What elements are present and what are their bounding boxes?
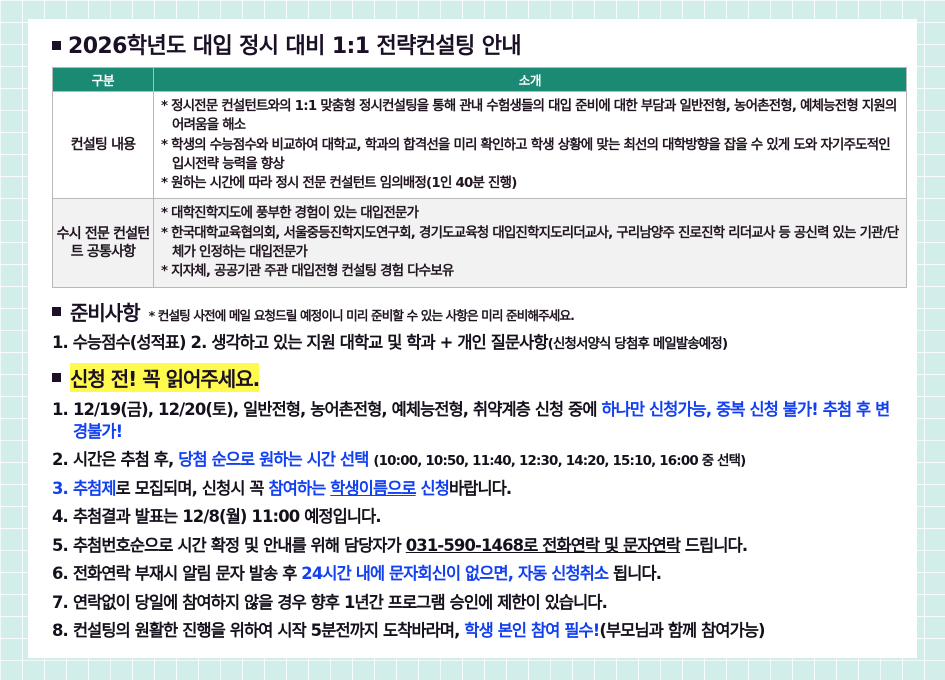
notice-item-text-run: 추첨번호순으로 시간 확정 및 안내를 위해 담당자가 xyxy=(73,536,406,555)
notice-item-text-run: 시간은 추첨 후, xyxy=(73,450,178,469)
notice-item-text: 12/19(금), 12/20(토), 일반전형, 농어촌전형, 예체능전형, … xyxy=(73,399,903,442)
notice-item-text-run: 12/19(금), 12/20(토), 일반전형, 농어촌전형, 예체능전형, … xyxy=(73,400,602,419)
notice-section: 신청 전! 꼭 읽어주세요. 1.12/19(금), 12/20(토), 일반전… xyxy=(52,363,903,641)
preparation-items-subtext: (신청서양식 당첨후 메일발송예정) xyxy=(548,337,728,352)
notice-item-number: 5. xyxy=(52,535,68,556)
notice-item-number: 8. xyxy=(52,620,68,641)
notice-item-text: 연락없이 당일에 참여하지 않을 경우 향후 1년간 프로그램 승인에 제한이 … xyxy=(73,592,903,613)
notice-item-text-run: (부모님과 함께 참여가능) xyxy=(599,621,764,640)
notice-list-item: 5.추첨번호순으로 시간 확정 및 안내를 위해 담당자가 031-590-14… xyxy=(52,535,903,556)
bullet-item: * 한국대학교육협의회, 서울중등진학지도연구회, 경기도교육청 대입진학지도리… xyxy=(161,224,900,263)
notice-item-text-run: 컨설팅의 원활한 진행을 위하여 시작 5분전까지 도착바라며, xyxy=(73,621,464,640)
notice-item-text: 컨설팅의 원활한 진행을 위하여 시작 5분전까지 도착바라며, 학생 본인 참… xyxy=(73,620,903,641)
notice-list-item: 8.컨설팅의 원활한 진행을 위하여 시작 5분전까지 도착바라며, 학생 본인… xyxy=(52,620,903,641)
notice-item-text-run: 추첨결과 발표는 12/8(월) 11:00 예정입니다. xyxy=(73,507,381,526)
notice-item-text-run: 학생 본인 참여 필수! xyxy=(464,621,599,640)
bullet-item: * 대학진학지도에 풍부한 경험이 있는 대입전문가 xyxy=(161,204,900,223)
preparation-items-line: 1. 수능점수(성적표) 2. 생각하고 있는 지원 대학교 및 학과 + 개인… xyxy=(52,332,903,354)
preparation-heading-line: 준비사항 * 컨설팅 사전에 메일 요청드릴 예정이니 미리 준비할 수 있는 … xyxy=(52,297,903,326)
row-content-consultant-common: * 대학진학지도에 풍부한 경험이 있는 대입전문가 * 한국대학교육협의회, … xyxy=(154,199,907,287)
preparation-note: * 컨설팅 사전에 메일 요청드릴 예정이니 미리 준비할 수 있는 사항은 미… xyxy=(149,305,574,324)
notice-item-text-run: 24시간 내에 문자회신이 없으면, 자동 신청취소 xyxy=(301,564,608,583)
column-header-category: 구분 xyxy=(53,68,154,92)
notice-item-text: 전화연락 부재시 알림 문자 발송 후 24시간 내에 문자회신이 없으면, 자… xyxy=(73,563,903,584)
notice-item-text-run: 전화연락 부재시 알림 문자 발송 후 xyxy=(73,564,301,583)
row-content-consulting-content: * 정시전문 컨설턴트와의 1:1 맞춤형 정시컨설팅을 통해 관내 수험생들의… xyxy=(154,92,907,199)
notice-item-text-run: 연락없이 당일에 참여하지 않을 경우 향후 1년간 프로그램 승인에 제한이 … xyxy=(73,593,607,612)
page-title-text: 2026학년도 대입 정시 대비 1:1 전략컨설팅 안내 xyxy=(68,28,521,60)
notice-item-number: 7. xyxy=(52,592,68,613)
notice-item-text: 추첨결과 발표는 12/8(월) 11:00 예정입니다. xyxy=(73,506,903,527)
table-body: 컨설팅 내용 * 정시전문 컨설턴트와의 1:1 맞춤형 정시컨설팅을 통해 관… xyxy=(53,92,907,288)
table-row: 컨설팅 내용 * 정시전문 컨설턴트와의 1:1 맞춤형 정시컨설팅을 통해 관… xyxy=(53,92,907,199)
page-title: 2026학년도 대입 정시 대비 1:1 전략컨설팅 안내 xyxy=(42,28,903,60)
notice-item-text-run: 드립니다. xyxy=(680,536,747,555)
notice-list-item: 7.연락없이 당일에 참여하지 않을 경우 향후 1년간 프로그램 승인에 제한… xyxy=(52,592,903,613)
notice-item-number: 6. xyxy=(52,563,68,584)
notice-item-text-run: 로 모집되며, 신청시 꼭 xyxy=(116,479,269,498)
bullet-item: * 원하는 시간에 따라 정시 전문 컨설턴트 임의배정(1인 40분 진행) xyxy=(161,174,900,193)
bullet-item: * 학생의 수능점수와 비교하여 대학교, 학과의 합격선을 미리 확인하고 학… xyxy=(161,136,900,175)
notice-item-number: 3. xyxy=(52,478,68,499)
notice-item-number: 1. xyxy=(52,399,68,420)
notice-list-item: 4.추첨결과 발표는 12/8(월) 11:00 예정입니다. xyxy=(52,506,903,527)
row-label-consultant-common: 수시 전문 컨설턴트 공통사항 xyxy=(53,199,154,287)
notice-list-item: 6.전화연락 부재시 알림 문자 발송 후 24시간 내에 문자회신이 없으면,… xyxy=(52,563,903,584)
notice-item-text-run: 추첨제 xyxy=(73,479,116,498)
notice-item-text-run: 바랍니다. xyxy=(449,479,511,498)
notice-heading: 신청 전! 꼭 읽어주세요. xyxy=(70,363,259,392)
bullet-item: * 지자체, 공공기관 주관 대입전형 컨설팅 경험 다수보유 xyxy=(161,262,900,281)
notice-item-text-run: 신청 xyxy=(416,479,449,498)
notice-item-number: 4. xyxy=(52,506,68,527)
table-row: 수시 전문 컨설턴트 공통사항 * 대학진학지도에 풍부한 경험이 있는 대입전… xyxy=(53,199,907,287)
notice-heading-line: 신청 전! 꼭 읽어주세요. xyxy=(52,363,903,392)
bullet-item: * 정시전문 컨설턴트와의 1:1 맞춤형 정시컨설팅을 통해 관내 수험생들의… xyxy=(161,97,900,136)
row-label-consulting-content: 컨설팅 내용 xyxy=(53,92,154,199)
notice-list-item: 2.시간은 추첨 후, 당첨 순으로 원하는 시간 선택 (10:00, 10:… xyxy=(52,449,903,471)
notice-list-item: 3.추첨제로 모집되며, 신청시 꼭 참여하는 학생이름으로 신청바랍니다. xyxy=(52,478,903,499)
table-header-row: 구분 소개 xyxy=(53,68,907,92)
preparation-items-text: 1. 수능점수(성적표) 2. 생각하고 있는 지원 대학교 및 학과 + 개인… xyxy=(52,333,548,352)
consulting-info-table: 구분 소개 컨설팅 내용 * 정시전문 컨설턴트와의 1:1 맞춤형 정시컨설팅… xyxy=(52,67,907,288)
preparation-section: 준비사항 * 컨설팅 사전에 메일 요청드릴 예정이니 미리 준비할 수 있는 … xyxy=(52,297,903,354)
filled-square-icon xyxy=(52,373,61,382)
notice-item-text-run: 됩니다. xyxy=(608,564,661,583)
notice-item-text-run: 참여하는 xyxy=(269,479,331,498)
notice-item-text: 추첨제로 모집되며, 신청시 꼭 참여하는 학생이름으로 신청바랍니다. xyxy=(73,478,903,499)
preparation-heading: 준비사항 xyxy=(70,297,140,326)
filled-square-icon xyxy=(52,307,61,316)
notice-item-number: 2. xyxy=(52,449,68,470)
notice-item-text: 시간은 추첨 후, 당첨 순으로 원하는 시간 선택 (10:00, 10:50… xyxy=(73,449,903,471)
notice-item-text-run: 031-590-1468로 전화연락 및 문자연락 xyxy=(406,536,680,555)
filled-square-icon xyxy=(52,41,61,50)
notice-item-text: 추첨번호순으로 시간 확정 및 안내를 위해 담당자가 031-590-1468… xyxy=(73,535,903,556)
notice-item-text-run: 학생이름으로 xyxy=(330,479,415,498)
document-page: 2026학년도 대입 정시 대비 1:1 전략컨설팅 안내 구분 소개 컨설팅 … xyxy=(28,19,917,658)
notice-list-item: 1.12/19(금), 12/20(토), 일반전형, 농어촌전형, 예체능전형… xyxy=(52,399,903,442)
notice-item-text-run: 당첨 순으로 원하는 시간 선택 xyxy=(178,450,373,469)
notice-item-text-run: (10:00, 10:50, 11:40, 12:30, 14:20, 15:1… xyxy=(373,454,745,469)
column-header-description: 소개 xyxy=(154,68,907,92)
notice-list: 1.12/19(금), 12/20(토), 일반전형, 농어촌전형, 예체능전형… xyxy=(52,399,903,641)
